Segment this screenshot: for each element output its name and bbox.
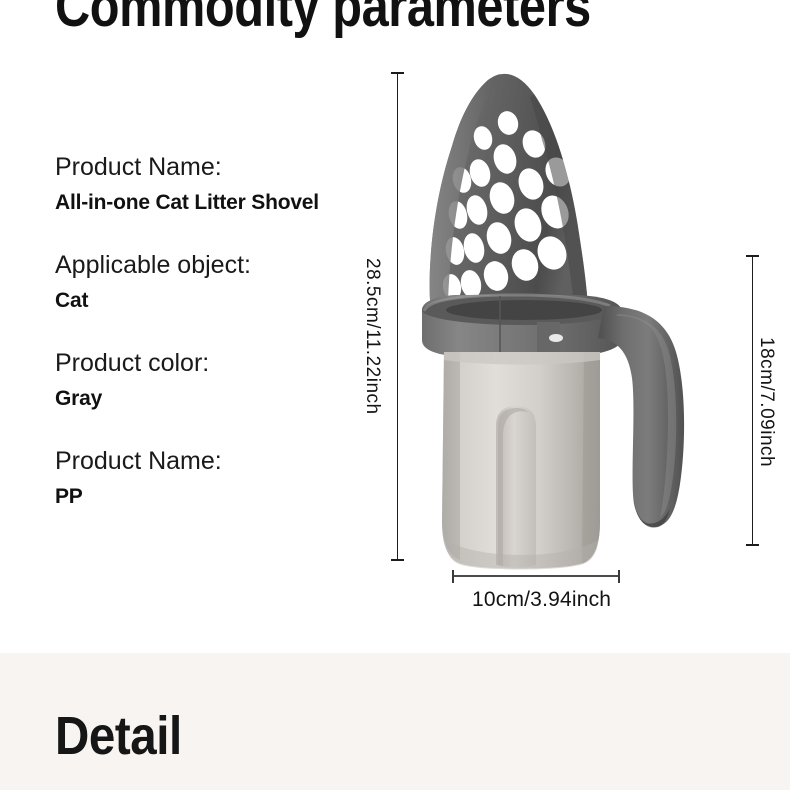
page-title: Commodity parameters	[55, 0, 591, 36]
detail-section: Detail	[0, 653, 790, 790]
spec-row-applicable-object: Applicable object: Cat	[55, 248, 385, 316]
curved-side-handle	[598, 306, 684, 528]
spec-value: PP	[55, 482, 385, 512]
dimension-label-width: 10cm/3.94inch	[472, 589, 611, 610]
dimension-label-depth: 18cm/7.09inch	[757, 337, 776, 467]
spec-value: All-in-one Cat Litter Shovel	[55, 188, 385, 218]
spec-label: Applicable object:	[55, 248, 385, 282]
spec-value: Gray	[55, 384, 385, 414]
dimension-cap-height-bottom	[391, 559, 404, 561]
dimension-cap-height-top	[391, 72, 404, 74]
spec-label: Product Name:	[55, 150, 385, 184]
spec-row-material: Product Name: PP	[55, 444, 385, 512]
spec-row-product-name: Product Name: All-in-one Cat Litter Shov…	[55, 150, 385, 218]
dimension-cap-depth-bottom	[746, 544, 759, 546]
dimension-line-height	[397, 73, 398, 560]
spec-label: Product color:	[55, 346, 385, 380]
commodity-parameters-section: Commodity parameters Product Name: All-i…	[0, 0, 790, 653]
perforated-sieve-scoop	[430, 74, 588, 311]
spec-value: Cat	[55, 286, 385, 316]
product-image	[408, 60, 758, 580]
dimension-line-depth	[752, 256, 753, 545]
dimension-cap-width-right	[618, 570, 620, 583]
latch-button	[537, 322, 563, 356]
detail-heading: Detail	[55, 709, 182, 763]
light-gray-container-body	[442, 352, 600, 570]
dark-collar-rim	[422, 295, 622, 357]
specification-list: Product Name: All-in-one Cat Litter Shov…	[55, 150, 385, 512]
dimension-label-height: 28.5cm/11.22inch	[363, 258, 382, 415]
spec-row-product-color: Product color: Gray	[55, 346, 385, 414]
spec-label: Product Name:	[55, 444, 385, 478]
product-parameters-page: Commodity parameters Product Name: All-i…	[0, 0, 790, 790]
dimension-cap-depth-top	[746, 255, 759, 257]
dimension-cap-width-left	[452, 570, 454, 583]
dimension-line-width	[452, 575, 620, 577]
